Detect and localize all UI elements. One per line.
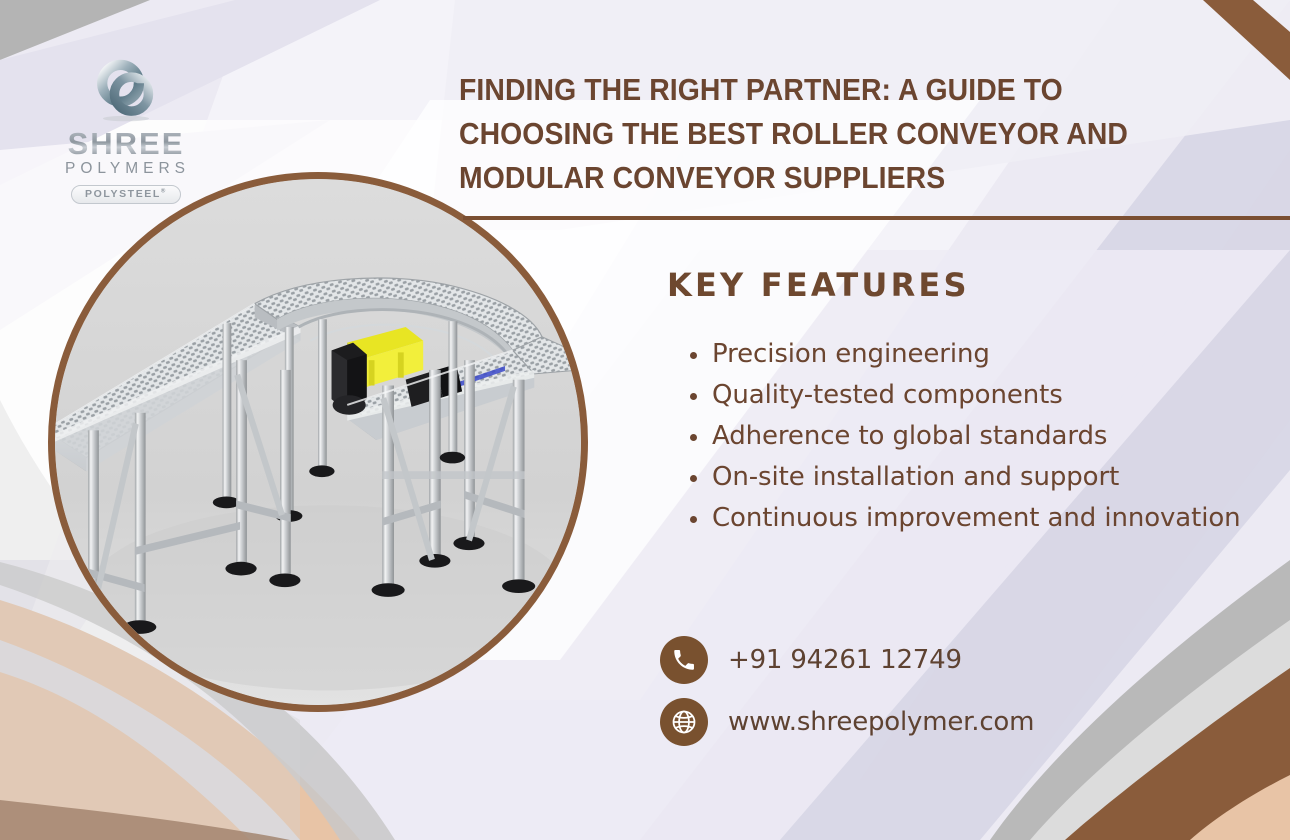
list-item: On-site installation and support	[712, 457, 1252, 498]
phone-icon	[660, 636, 708, 684]
conveyor-illustration	[55, 179, 581, 705]
brand-logo: SHREE POLYMERS POLYSTEEL®	[36, 56, 216, 204]
list-item: Quality-tested components	[712, 375, 1252, 416]
interlocking-rings-logo-icon	[92, 56, 160, 124]
list-item: Precision engineering	[712, 334, 1252, 375]
product-photo-inner	[55, 179, 581, 705]
phone-number: +91 94261 12749	[728, 645, 962, 675]
key-features-heading: KEY FEATURES	[667, 266, 970, 304]
brand-badge-label: POLYSTEEL	[85, 188, 161, 200]
contact-row-phone[interactable]: +91 94261 12749	[660, 636, 1034, 684]
list-item: Adherence to global standards	[712, 416, 1252, 457]
poster-canvas: SHREE POLYMERS POLYSTEEL®	[0, 0, 1290, 840]
phone-icon-glyph	[671, 647, 697, 673]
header-divider	[463, 216, 1290, 220]
globe-icon-glyph	[670, 708, 698, 736]
list-item: Continuous improvement and innovation	[712, 498, 1252, 539]
website-url: www.shreepolymer.com	[728, 707, 1034, 737]
key-features-list: Precision engineering Quality-tested com…	[678, 334, 1252, 539]
contact-block: +91 94261 12749 www.shreepolymer.com	[660, 636, 1034, 760]
product-photo-circle	[48, 172, 588, 712]
brand-badge: POLYSTEEL®	[71, 185, 181, 204]
contact-row-website[interactable]: www.shreepolymer.com	[660, 698, 1034, 746]
registered-mark: ®	[161, 189, 167, 195]
brand-subtitle: POLYMERS	[39, 160, 216, 178]
globe-icon	[660, 698, 708, 746]
page-title: FINDING THE RIGHT PARTNER: A GUIDE TO CH…	[459, 68, 1203, 200]
brand-name: SHREE	[36, 128, 216, 159]
